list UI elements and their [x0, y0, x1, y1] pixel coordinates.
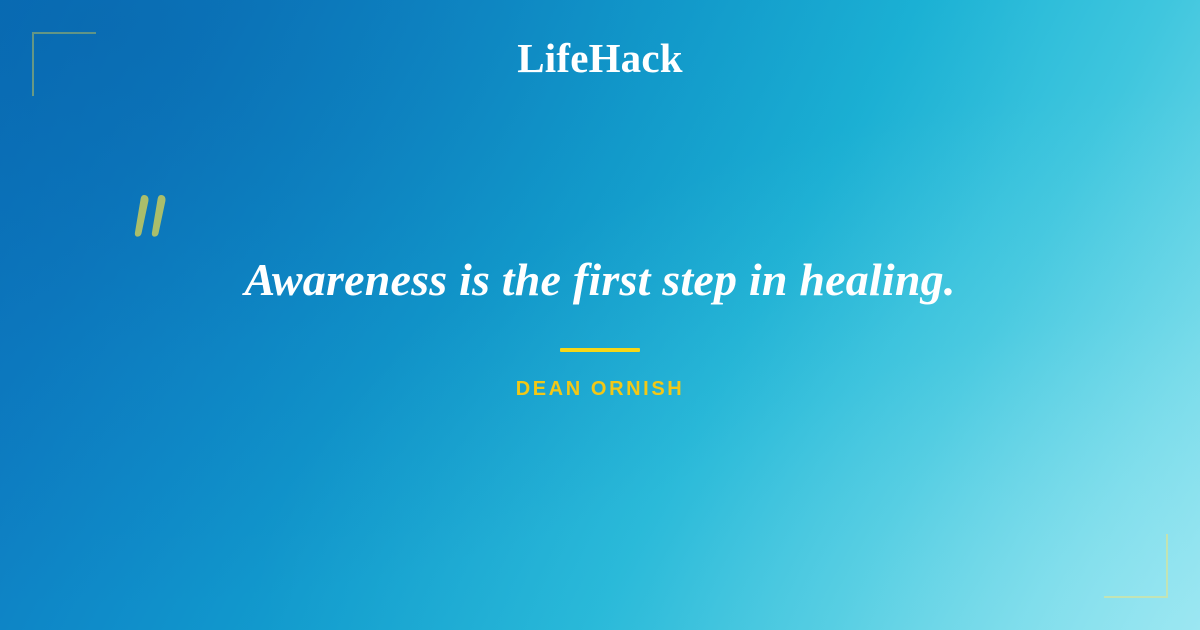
quote-author: DEAN ORNISH — [0, 378, 1200, 401]
quote-content: Awareness is the first step in healing. … — [0, 252, 1200, 401]
corner-bracket-bottom-right-icon — [1104, 534, 1168, 598]
quote-divider — [560, 348, 640, 352]
quote-mark-icon — [128, 193, 180, 249]
brand-logo-text: LifeHack — [517, 38, 683, 79]
quote-text: Awareness is the first step in healing. — [150, 252, 1050, 308]
quote-card: LifeHack Awareness is the first step in … — [0, 0, 1200, 630]
brand-logo: LifeHack — [0, 38, 1200, 79]
